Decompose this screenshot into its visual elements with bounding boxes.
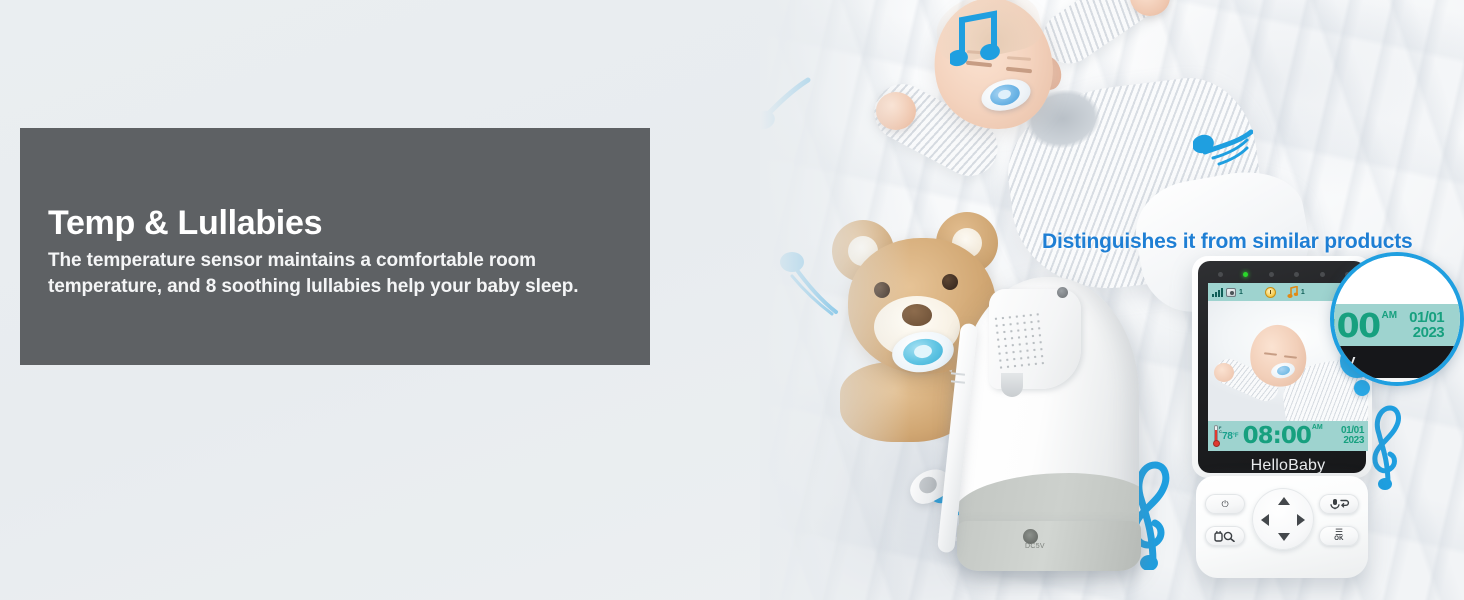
talk-back-button[interactable] (1319, 494, 1359, 514)
talk-back-icon (1327, 498, 1351, 510)
feature-description: The temperature sensor maintains a comfo… (48, 248, 633, 299)
temperature-unit: °F (1233, 433, 1239, 439)
zoom-button[interactable] (1205, 526, 1245, 546)
dpad-left-icon[interactable] (1261, 514, 1269, 526)
magnified-brand-bar: lloBaby (1330, 346, 1464, 378)
date-line-2: 2023 (1341, 436, 1364, 446)
thermometer-icon: FC (1212, 425, 1220, 447)
camera-lens-icon (1057, 287, 1068, 298)
camera-base (957, 521, 1141, 571)
hamburger-menu-icon: ☰ (1335, 529, 1343, 536)
menu-ok-button[interactable]: ☰ OK (1319, 526, 1359, 546)
screen-bottom-status-bar: FC 78 °F 08:00 AM 01/01 2023 (1208, 421, 1368, 451)
magnifier-tail-dot-small (1354, 380, 1370, 396)
led-indicator (1269, 272, 1274, 277)
baby-camera-unit: DC5V (905, 275, 1195, 600)
led-indicator (1320, 272, 1325, 277)
magnifier-callout: 08:00 AM 01/01 2023 lloBaby (1330, 252, 1464, 388)
photo-headline: Distinguishes it from similar products (1042, 230, 1412, 254)
clock-time: 08:00 (1243, 425, 1311, 448)
alarm-clock-icon (1265, 287, 1276, 298)
camera-panel-tab (1001, 373, 1023, 397)
product-feature-banner: Distinguishes it from similar products D… (0, 0, 1464, 600)
magnifier-ring: 08:00 AM 01/01 2023 lloBaby (1330, 252, 1464, 386)
led-indicator (1294, 272, 1299, 277)
magnified-screen-content: 08:00 AM 01/01 2023 lloBaby (1330, 256, 1464, 386)
dpad-up-icon[interactable] (1278, 497, 1290, 505)
eighth-note-icon (1193, 124, 1253, 174)
monitor-keypad: ⏻ (1196, 476, 1368, 578)
lullaby-index-label: 1 (1301, 289, 1305, 296)
magnified-lower-edge (1330, 378, 1464, 386)
led-indicator-active (1243, 272, 1248, 277)
magnified-brand-label: lloBaby (1330, 349, 1356, 375)
camera-icon (1226, 288, 1236, 297)
music-note-icon (1287, 286, 1298, 298)
screen-baby-fist (1214, 363, 1234, 382)
temperature-value: 78 (1222, 431, 1233, 442)
magnified-date-line-1: 01/01 (1409, 310, 1444, 325)
magnified-date-display: 01/01 2023 (1409, 310, 1444, 340)
dpad-right-icon[interactable] (1297, 514, 1305, 526)
dpad-control[interactable] (1252, 488, 1314, 550)
magnified-clock-time: 08:00 (1330, 309, 1380, 342)
camera-power-jack-icon (1023, 529, 1038, 544)
zoom-lock-icon (1213, 531, 1237, 542)
camera-dc-label: DC5V (1025, 543, 1045, 550)
camera-index-label: 1 (1239, 289, 1243, 296)
power-icon: ⏻ (1221, 499, 1228, 510)
led-indicator (1218, 272, 1223, 277)
dpad-down-icon[interactable] (1278, 533, 1290, 541)
feature-text-card: Temp & Lullabies The temperature sensor … (20, 128, 650, 365)
magnified-date-line-2: 2023 (1409, 325, 1444, 340)
ok-label: OK (1334, 536, 1344, 543)
feature-title: Temp & Lullabies (48, 206, 633, 240)
feature-text-inner: Temp & Lullabies The temperature sensor … (48, 206, 633, 299)
camera-speaker-grille-icon (992, 311, 1046, 374)
magnified-status-bar: 08:00 AM 01/01 2023 (1330, 304, 1464, 346)
signal-bars-icon (1212, 288, 1223, 297)
beamed-eighth-notes-icon (950, 10, 1002, 70)
clock-meridiem: AM (1312, 424, 1323, 431)
photo-left-fade (760, 0, 910, 600)
magnified-video-area (1330, 256, 1464, 304)
magnified-clock-meridiem: AM (1382, 310, 1398, 321)
power-button[interactable]: ⏻ (1205, 494, 1245, 514)
date-display: 01/01 2023 (1341, 426, 1364, 446)
